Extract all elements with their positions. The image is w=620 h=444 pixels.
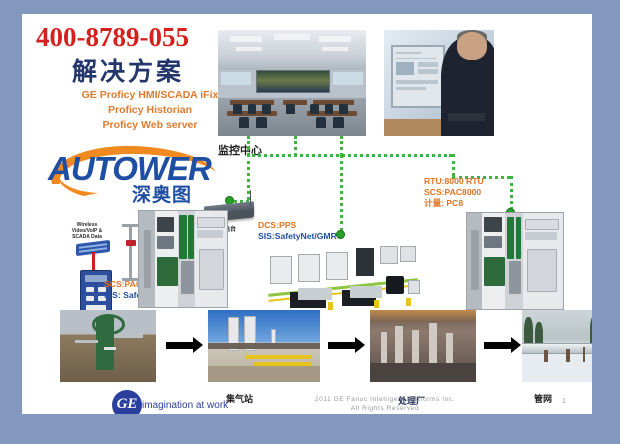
copyright-line-1: 2011 GE Fanuc Intelligent Platforms Inc.	[280, 395, 490, 404]
modem-antenna-icon	[250, 190, 251, 206]
dcs-tag-line-1: DCS:PPS	[258, 220, 337, 231]
node-dcs	[336, 230, 345, 239]
phone-number: 400-8789-055	[36, 22, 189, 53]
antenna-crossarm	[122, 224, 138, 227]
logo-wordmark-cn: 深奥图	[132, 180, 192, 207]
gas-gathering-photo	[208, 310, 320, 382]
link-center-drop	[247, 136, 250, 156]
page-number: 1	[562, 398, 566, 405]
slide-canvas: 400-8789-055 解决方案 GE Proficy HMI/SCADA i…	[22, 14, 592, 414]
left-control-cabinet	[138, 210, 228, 308]
antenna-pole	[129, 224, 132, 280]
processing-plant-photo	[370, 310, 476, 382]
wireless-caption: Wireless Video/VoIP & SCADA Data	[58, 222, 116, 240]
page-title: 解决方案	[72, 52, 184, 88]
operator-photo	[384, 30, 494, 136]
flow-arrow-2	[328, 342, 356, 349]
link-to-rtu-v2	[510, 176, 513, 210]
sensor-device	[126, 240, 136, 246]
link-to-dcs	[340, 154, 343, 232]
right-control-cabinet	[466, 212, 564, 310]
link-bus-horizontal	[247, 154, 452, 157]
autower-logo: AUTOWER 深奥图	[40, 138, 225, 200]
copyright-line-2: All Rights Reserved	[280, 404, 490, 413]
rtu-tag-line-1: RTU:8000 RTU	[424, 176, 484, 187]
flow-arrow-3	[484, 342, 512, 349]
copyright-notice: 2011 GE Fanuc Intelligent Platforms Inc.…	[280, 395, 490, 413]
ge-logo: GE	[112, 390, 142, 414]
power-cable	[92, 252, 95, 272]
rtu-tag: RTU:8000 RTU SCS:PAC8000 计量: PC8	[424, 176, 484, 209]
control-room-photo	[218, 30, 366, 136]
wellhead-photo	[60, 310, 156, 382]
gas-gathering-label: 集气站	[226, 392, 253, 405]
slide-frame: 400-8789-055 解决方案 GE Proficy HMI/SCADA i…	[0, 0, 620, 444]
pipeline-label: 管网	[534, 392, 552, 405]
link-center-drop-3	[340, 136, 343, 156]
ge-tagline: imagination at work	[142, 400, 228, 411]
rtu-tag-line-3: 计量: PC8	[424, 198, 484, 209]
rtu-tag-line-2: SCS:PAC8000	[424, 187, 484, 198]
ge-monogram-icon: GE	[117, 396, 138, 413]
flow-arrow-1	[166, 342, 194, 349]
dcs-equipment-cluster	[262, 242, 422, 310]
wireless-caption-line-3: SCADA Data	[58, 234, 116, 240]
link-to-rtu-v1	[452, 154, 455, 176]
dcs-tag: DCS:PPS SIS:SafetyNet/GMR	[258, 220, 337, 242]
link-center-drop-2	[294, 136, 297, 156]
dcs-tag-line-2: SIS:SafetyNet/GMR	[258, 231, 337, 242]
pipeline-photo	[522, 310, 592, 382]
